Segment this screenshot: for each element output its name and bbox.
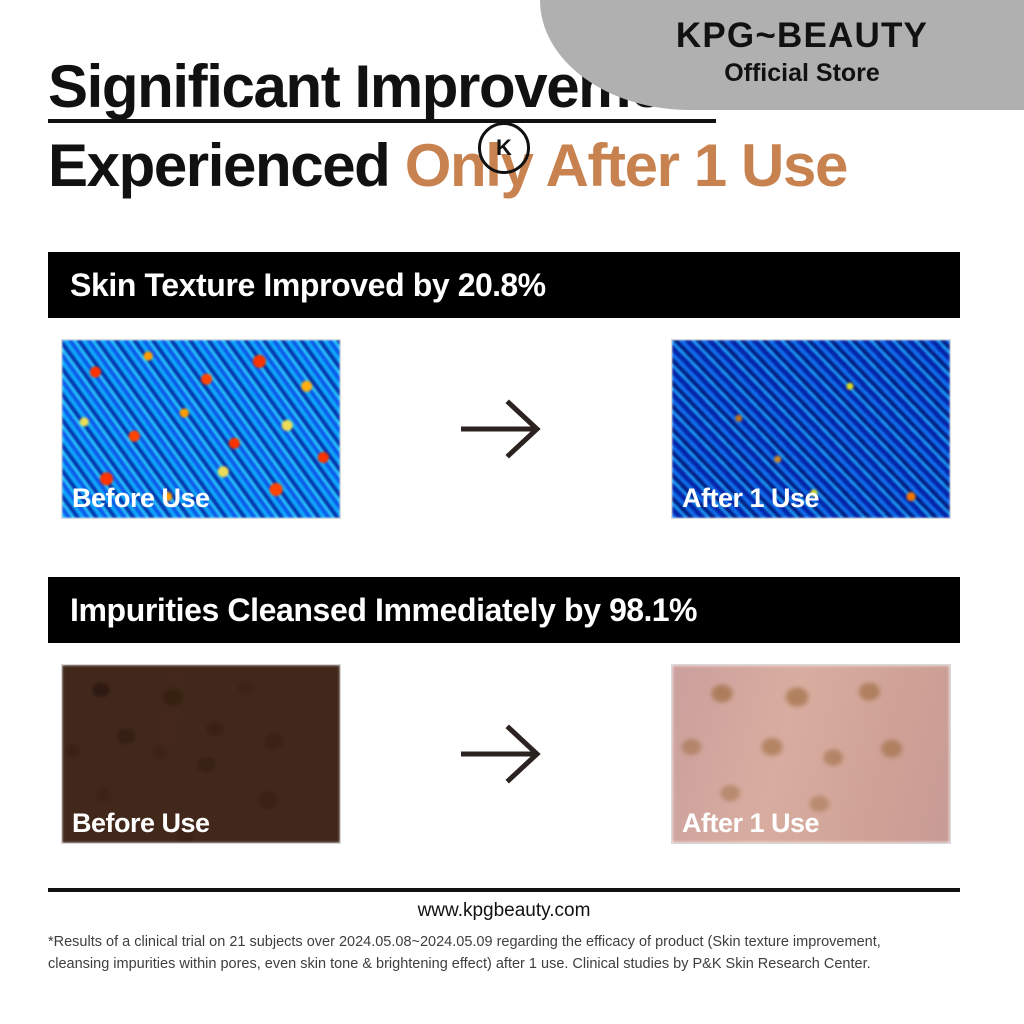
- photo-label-after-impurities: After 1 Use: [682, 810, 819, 837]
- footer-disclaimer-line-1: *Results of a clinical trial on 21 subje…: [48, 931, 960, 953]
- headline-line-2: Experienced Only After 1 Use: [48, 135, 847, 196]
- photo-label-after-skin-texture: After 1 Use: [682, 485, 819, 512]
- photo-label-before-skin-texture: Before Use: [72, 485, 210, 512]
- banner-text-skin-texture: Skin Texture Improved by: [70, 267, 458, 303]
- banner-value-skin-texture: 20.8%: [458, 267, 546, 303]
- circle-k-logo-icon: K: [478, 122, 530, 174]
- arrow-right-svg: [453, 391, 553, 467]
- store-badge: KPG~BEAUTY Official Store: [540, 0, 1024, 110]
- footer-disclaimer: *Results of a clinical trial on 21 subje…: [48, 931, 960, 976]
- footer-website-url[interactable]: www.kpgbeauty.com: [48, 900, 960, 922]
- photo-after-skin-texture: After 1 Use: [671, 339, 951, 519]
- photo-before-impurities: Before Use: [61, 664, 341, 844]
- banner-text-impurities: Impurities Cleansed Immediately by: [70, 592, 609, 628]
- comparison-skin-texture: Before Use After 1 Use: [48, 339, 960, 521]
- circle-k-logo-letter: K: [496, 135, 512, 161]
- footer-disclaimer-line-2: cleansing impurities within pores, even …: [48, 953, 960, 975]
- headline-line-2-plain: Experienced: [48, 132, 405, 199]
- photo-before-skin-texture: Before Use: [61, 339, 341, 519]
- store-badge-subtitle: Official Store: [540, 61, 1024, 86]
- headline-line-2-accent: Only After 1 Use: [405, 132, 847, 199]
- result-section-impurities: Impurities Cleansed Immediately by 98.1%…: [48, 577, 960, 846]
- result-section-skin-texture: Skin Texture Improved by 20.8% Before Us…: [48, 252, 960, 521]
- photo-after-impurities: After 1 Use: [671, 664, 951, 844]
- page-footer: www.kpgbeauty.com *Results of a clinical…: [48, 888, 960, 976]
- banner-label-impurities: Impurities Cleansed Immediately by 98.1%: [70, 592, 697, 629]
- banner-label-skin-texture: Skin Texture Improved by 20.8%: [70, 267, 546, 304]
- result-banner-skin-texture: Skin Texture Improved by 20.8%: [48, 252, 960, 318]
- arrow-right-icon-impurities: [453, 716, 553, 792]
- arrow-right-icon-skin-texture: [453, 391, 553, 467]
- photo-label-before-impurities: Before Use: [72, 810, 210, 837]
- arrow-right-svg: [453, 716, 553, 792]
- footer-divider: [48, 888, 960, 892]
- comparison-impurities: Before Use After 1 Use: [48, 664, 960, 846]
- banner-value-impurities: 98.1%: [609, 592, 697, 628]
- store-brand-name: KPG~BEAUTY: [540, 18, 1024, 53]
- result-banner-impurities: Impurities Cleansed Immediately by 98.1%: [48, 577, 960, 643]
